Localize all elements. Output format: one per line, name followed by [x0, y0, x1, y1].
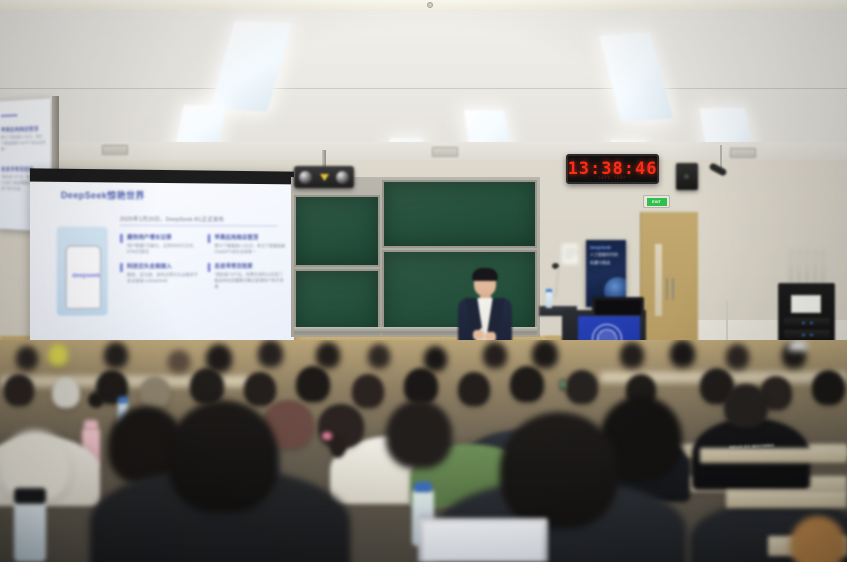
poster-line-1: 人工智能时代的	[590, 252, 622, 258]
bullet-heading: 科技巨头全面接入	[127, 262, 200, 270]
audience-head-foreground	[386, 400, 452, 468]
presentation-slide: DeepSeek惊艳世界 deepseek 2025年1月20日，DeepSee…	[30, 182, 294, 344]
ceiling-light-panel	[210, 21, 292, 112]
raised-phone	[560, 380, 566, 390]
notice-text-line	[565, 253, 577, 254]
ceiling-light-panel	[599, 32, 673, 121]
bullet-subtext: 微软、亚马逊、英伟达等巨头云服务平台全面接入DeepSeek	[127, 272, 200, 285]
monitor-screen	[595, 300, 641, 315]
audience-head	[483, 342, 507, 368]
hair-bun	[88, 392, 104, 408]
audience-head	[532, 340, 558, 368]
status-led-icon	[810, 322, 813, 324]
bullet-subtext: 用户数量7天破亿，达到3000万日活、5700万周活	[127, 243, 200, 256]
ceiling	[0, 0, 847, 160]
microphone-stand	[790, 255, 792, 283]
audience-head	[244, 372, 276, 406]
slide-bullet-grid: 最快用户增长记录 用户数量7天破亿，达到3000万日活、5700万周活 苹果应用…	[120, 233, 285, 291]
notice-text-line	[565, 257, 573, 258]
water-bottle	[14, 500, 46, 562]
audience-head	[48, 344, 68, 366]
desk-row	[700, 448, 847, 463]
bullet-heading: 最快用户增长记录	[127, 233, 200, 241]
av-rack-unit[interactable]	[784, 318, 830, 327]
laptop-screen	[423, 522, 543, 562]
side-screen-heading-1: 苹果应用商店登顶	[1, 125, 46, 133]
blackboard-panel	[294, 195, 380, 267]
av-rack-unit[interactable]	[784, 330, 830, 339]
air-vent	[102, 145, 128, 155]
status-led-icon	[802, 322, 805, 324]
audience-head	[104, 342, 128, 368]
deepseek-logo-icon: deepseek	[72, 273, 100, 279]
audience-head	[168, 350, 190, 372]
audience-head	[670, 340, 695, 367]
slide-bullet: 苹果应用商店登顶 累计下载量超1.1亿次，单日下载量超越ChatGPT成为全球第…	[208, 233, 286, 255]
smoke-detector-icon	[427, 2, 433, 8]
wall-speaker	[676, 163, 698, 190]
thermos-cap	[84, 420, 98, 430]
microphone-stand	[798, 255, 800, 283]
status-led-icon	[802, 334, 805, 336]
audience-head	[404, 368, 438, 404]
projector-lens-icon	[299, 171, 312, 184]
audience-head	[510, 366, 544, 402]
audience-head	[296, 366, 330, 402]
door-handle[interactable]	[666, 278, 668, 300]
audience-head	[620, 342, 644, 368]
audience-head	[258, 340, 283, 367]
slide-bullet: 最快用户增长记录 用户数量7天破亿，达到3000万日活、5700万周活	[120, 233, 200, 256]
audience-area: DEUS EX MACHINA MOTORCYCLES	[0, 340, 847, 562]
bottle-cap	[14, 488, 46, 504]
glasses-icon	[476, 280, 494, 284]
bullet-subtext: "国民级"AI产品，免费在线的以及低门槛本地化部署模式触达普通用户和开发者	[214, 271, 285, 290]
audience-head	[52, 378, 80, 408]
audience-head	[726, 344, 749, 369]
phone-body: deepseek	[65, 245, 102, 310]
bottle-cap	[118, 397, 128, 403]
side-screen-subtext-1: 累计下载量超1.1亿次，单日下载量超越ChatGPT成为全球第一	[1, 134, 46, 152]
clock-sublabel: DATE TEMP	[568, 176, 657, 180]
bullet-heading: 苹果应用商店登顶	[214, 233, 285, 241]
audience-head	[812, 370, 845, 405]
door-glass-panel	[655, 244, 662, 316]
phone-mockup: deepseek	[57, 227, 108, 316]
hair-tie	[322, 432, 332, 440]
hall-door[interactable]	[640, 212, 698, 360]
audience-head	[4, 374, 34, 406]
notice-text-line	[565, 249, 577, 250]
air-vent	[730, 148, 756, 158]
blackboard-panel	[382, 180, 537, 248]
audience-head	[190, 368, 224, 404]
poster-line-2: 机遇与挑战	[590, 260, 622, 266]
ponytail	[330, 436, 346, 458]
audience-head	[140, 376, 170, 408]
exit-sign: EXIT	[643, 195, 670, 208]
audience-head	[724, 384, 768, 428]
projector-badge-icon	[320, 174, 329, 181]
door-handle[interactable]	[672, 278, 674, 300]
ceiling-rod	[720, 145, 722, 169]
wall-notice	[561, 243, 579, 265]
white-cap	[788, 340, 808, 351]
laptop[interactable]	[418, 518, 548, 562]
bottle-cap	[414, 482, 432, 492]
slide-title: DeepSeek惊艳世界	[61, 188, 286, 203]
audience-head	[566, 370, 598, 404]
audience-head	[368, 344, 390, 368]
audience-head	[424, 346, 447, 371]
desk-row	[726, 490, 847, 508]
slide-bullet: 走进寻常百姓家 "国民级"AI产品，免费在线的以及低门槛本地化部署模式触达普通用…	[208, 261, 286, 290]
slide-bullet: 科技巨头全面接入 微软、亚马逊、英伟达等巨头云服务平台全面接入DeepSeek	[120, 262, 200, 291]
speaker-cone-icon	[684, 174, 689, 179]
audience-head	[352, 374, 384, 408]
slide-date-line: 2025年1月20日，DeepSeek R1正式发布	[120, 215, 278, 227]
water-bottle	[546, 292, 552, 308]
foreground-head	[500, 412, 618, 528]
audience-head	[16, 346, 38, 370]
microphone-stand	[822, 255, 824, 283]
air-vent	[432, 147, 458, 157]
bullet-heading: 走进寻常百姓家	[214, 261, 285, 269]
digital-clock: 13:38:46 DATE TEMP	[566, 154, 659, 184]
projector-lens-icon	[336, 171, 349, 184]
av-rack-note	[791, 295, 821, 313]
presenter-hand	[473, 330, 484, 340]
bullet-subtext: 累计下载量超1.1亿次，单日下载量超越ChatGPT成为全球第一	[214, 243, 285, 256]
microphone-stand	[806, 255, 808, 283]
microphone-stand	[814, 255, 816, 283]
foreground-head	[168, 400, 278, 512]
audience-head	[458, 372, 490, 406]
ceiling-projector	[294, 166, 354, 188]
phone-screen-glow	[561, 381, 565, 388]
ceiling-light-strip	[0, 0, 847, 10]
projection-screen: DeepSeek惊艳世界 deepseek 2025年1月20日，DeepSee…	[30, 168, 294, 343]
divider	[1, 114, 17, 117]
lecture-hall-photo: 苹果应用商店登顶 累计下载量超1.1亿次，单日下载量超越ChatGPT成为全球第…	[0, 0, 847, 562]
exit-sign-label: EXIT	[647, 198, 667, 206]
status-led-icon	[810, 334, 813, 336]
ceiling-seam	[0, 88, 847, 89]
audience-head	[316, 342, 340, 368]
poster-brand: DeepSeek	[590, 245, 622, 250]
blackboard-panel	[294, 269, 380, 335]
